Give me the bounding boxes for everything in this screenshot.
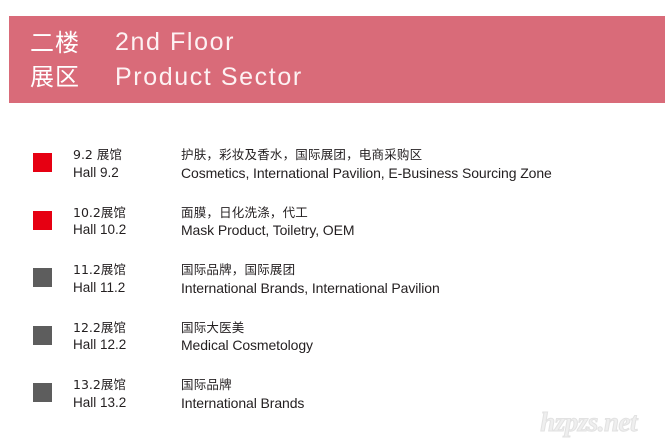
list-item: 11.2展馆 Hall 11.2 国际品牌，国际展团 International…: [0, 261, 665, 319]
hall-description-en: Mask Product, Toiletry, OEM: [181, 221, 354, 239]
hall-description-en: Medical Cosmetology: [181, 336, 313, 354]
hall-description-cn: 国际品牌，国际展团: [181, 261, 440, 279]
hall-label-cn: 13.2展馆: [73, 377, 126, 392]
hall-label: 9.2 展馆 Hall 9.2: [73, 146, 178, 181]
hall-description: 面膜，日化洗涤，代工 Mask Product, Toiletry, OEM: [181, 204, 354, 240]
hall-description: 护肤，彩妆及香水，国际展团，电商采购区 Cosmetics, Internati…: [181, 146, 552, 182]
hall-marker-square-icon: [33, 268, 52, 287]
hall-description-en: Cosmetics, International Pavilion, E-Bus…: [181, 164, 552, 182]
hall-marker-square-icon: [33, 326, 52, 345]
hall-label-cn: 9.2 展馆: [73, 147, 122, 162]
list-item: 12.2展馆 Hall 12.2 国际大医美 Medical Cosmetolo…: [0, 319, 665, 377]
hall-description: 国际品牌，国际展团 International Brands, Internat…: [181, 261, 440, 297]
header-english-title: 2nd Floor Product Sector: [115, 25, 303, 95]
header-chinese-title: 二楼 展区: [30, 26, 80, 94]
hall-description-cn: 国际品牌: [181, 376, 304, 394]
hall-marker-square-icon: [33, 211, 52, 230]
hall-description-cn: 护肤，彩妆及香水，国际展团，电商采购区: [181, 146, 552, 164]
hall-description-cn: 国际大医美: [181, 319, 313, 337]
header-english-line-1: 2nd Floor: [115, 25, 303, 60]
hall-marker-square-icon: [33, 383, 52, 402]
hall-label: 11.2展馆 Hall 11.2: [73, 261, 178, 296]
header-chinese-line-2: 展区: [30, 60, 80, 94]
hall-label: 12.2展馆 Hall 12.2: [73, 319, 178, 354]
hall-label-en: Hall 10.2: [73, 222, 126, 237]
hall-description-cn: 面膜，日化洗涤，代工: [181, 204, 354, 222]
hall-list: 9.2 展馆 Hall 9.2 护肤，彩妆及香水，国际展团，电商采购区 Cosm…: [0, 146, 665, 434]
hall-description-en: International Brands: [181, 394, 304, 412]
hall-label-cn: 11.2展馆: [73, 262, 126, 277]
header-banner: 二楼 展区 2nd Floor Product Sector: [9, 16, 665, 103]
header-chinese-line-1: 二楼: [30, 26, 80, 60]
hall-label-cn: 12.2展馆: [73, 320, 126, 335]
hall-label-en: Hall 11.2: [73, 280, 125, 295]
watermark: hzpzs.net: [540, 407, 637, 438]
hall-label: 13.2展馆 Hall 13.2: [73, 376, 178, 411]
hall-marker-square-icon: [33, 153, 52, 172]
hall-description-en: International Brands, International Pavi…: [181, 279, 440, 297]
hall-label-en: Hall 13.2: [73, 395, 126, 410]
hall-label-cn: 10.2展馆: [73, 205, 126, 220]
header-english-line-2: Product Sector: [115, 60, 303, 95]
hall-description: 国际品牌 International Brands: [181, 376, 304, 412]
list-item: 9.2 展馆 Hall 9.2 护肤，彩妆及香水，国际展团，电商采购区 Cosm…: [0, 146, 665, 204]
hall-description: 国际大医美 Medical Cosmetology: [181, 319, 313, 355]
list-item: 10.2展馆 Hall 10.2 面膜，日化洗涤，代工 Mask Product…: [0, 204, 665, 262]
hall-label-en: Hall 12.2: [73, 337, 126, 352]
hall-label: 10.2展馆 Hall 10.2: [73, 204, 178, 239]
hall-label-en: Hall 9.2: [73, 165, 119, 180]
